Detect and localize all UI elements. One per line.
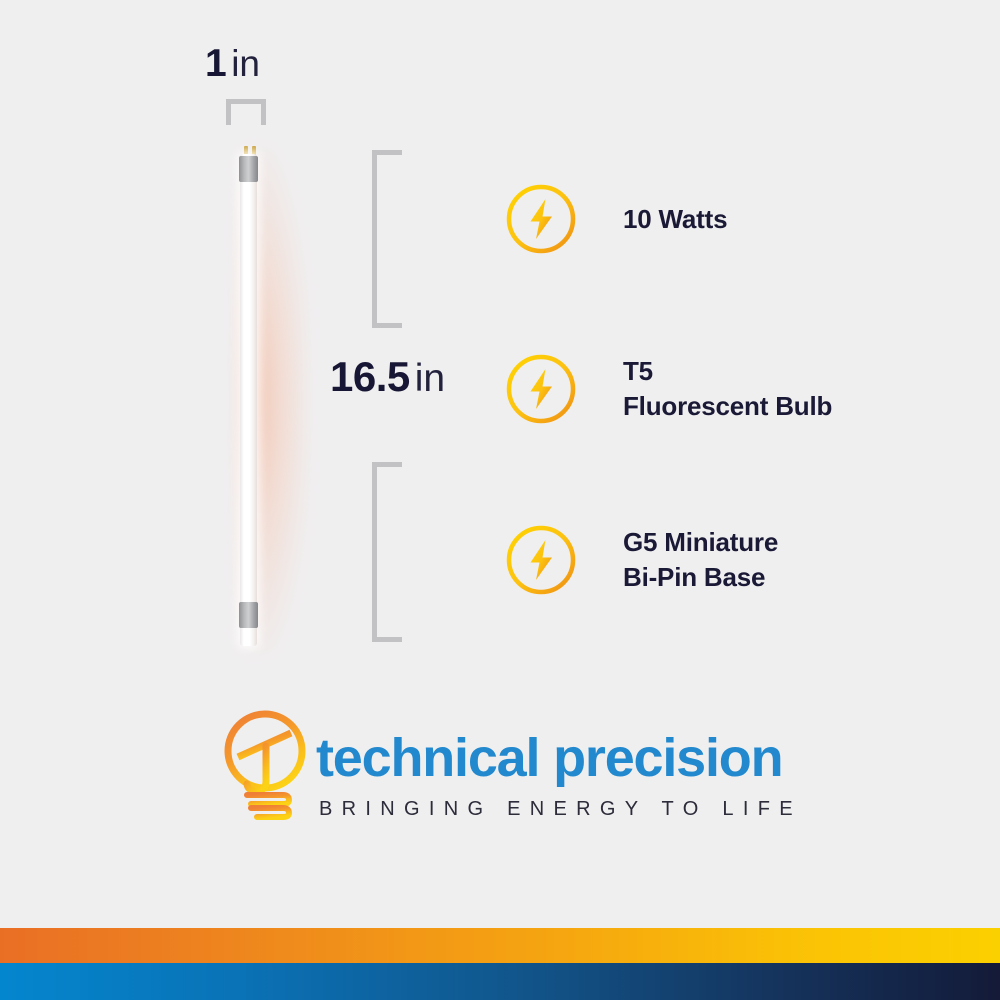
width-dimension-bracket <box>226 99 266 125</box>
lightning-bolt-icon <box>504 523 578 597</box>
spec-label-base-type: G5 Miniature Bi-Pin Base <box>623 525 778 594</box>
spec-row-wattage: 10 Watts <box>504 182 727 256</box>
tube-glass-body <box>240 154 257 646</box>
length-dimension-value: 16.5 <box>330 353 410 400</box>
length-dimension-label: 16.5in <box>330 356 445 398</box>
spec-row-base-type: G5 Miniature Bi-Pin Base <box>504 523 778 597</box>
infographic-canvas: 1in 16.5in <box>0 0 1000 1000</box>
brand-wordmark: technical precision <box>316 731 816 785</box>
lightning-bolt-icon <box>504 182 578 256</box>
brand-logo: technical precision BRINGING ENERGY TO L… <box>211 703 811 823</box>
logo-text-block: technical precision BRINGING ENERGY TO L… <box>316 703 816 819</box>
width-dimension-value: 1 <box>205 42 226 85</box>
width-dimension-unit: in <box>231 43 260 84</box>
length-dimension-unit: in <box>415 357 445 400</box>
spec-row-bulb-type: T5 Fluorescent Bulb <box>504 352 832 426</box>
tube-end-cap-top <box>239 156 258 182</box>
width-dimension-label: 1in <box>205 44 260 83</box>
brand-tagline: BRINGING ENERGY TO LIFE <box>319 799 816 819</box>
length-dimension-bracket-upper <box>372 150 402 328</box>
lightbulb-t-icon <box>211 703 319 821</box>
length-dimension-bracket-lower <box>372 462 402 642</box>
spec-label-bulb-type: T5 Fluorescent Bulb <box>623 354 832 423</box>
footer-bar-orange <box>0 928 1000 963</box>
lightning-bolt-icon <box>504 352 578 426</box>
product-illustration <box>196 140 316 660</box>
spec-label-wattage: 10 Watts <box>623 202 727 237</box>
tube-end-cap-bottom <box>239 602 258 628</box>
footer-bar-blue <box>0 963 1000 1000</box>
